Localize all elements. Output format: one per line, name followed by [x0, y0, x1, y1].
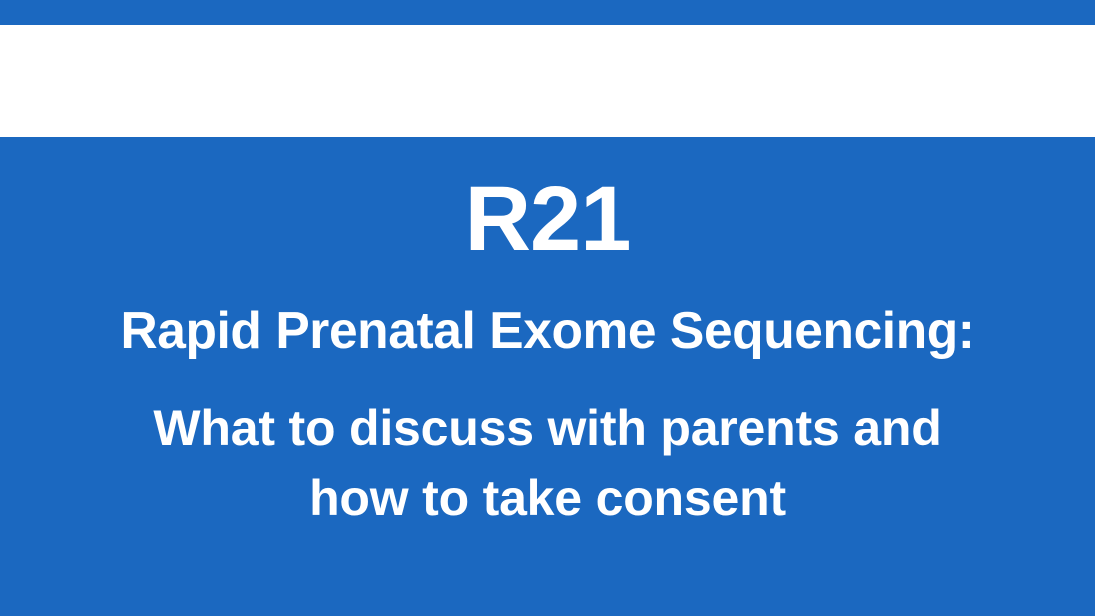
subtitle-line-2: What to discuss with parents and: [0, 398, 1095, 458]
title-panel: R21 Rapid Prenatal Exome Sequencing: Wha…: [0, 137, 1095, 616]
top-accent-band: [0, 0, 1095, 25]
subtitle-line-1: Rapid Prenatal Exome Sequencing:: [5, 300, 1089, 362]
subtitle-line-3: how to take consent: [0, 468, 1095, 528]
slide-subtitle-block: Rapid Prenatal Exome Sequencing: What to…: [0, 300, 1095, 528]
header-banner-area: [0, 25, 1095, 137]
slide-title: R21: [0, 171, 1095, 267]
slide-canvas: R21 Rapid Prenatal Exome Sequencing: Wha…: [0, 0, 1095, 616]
